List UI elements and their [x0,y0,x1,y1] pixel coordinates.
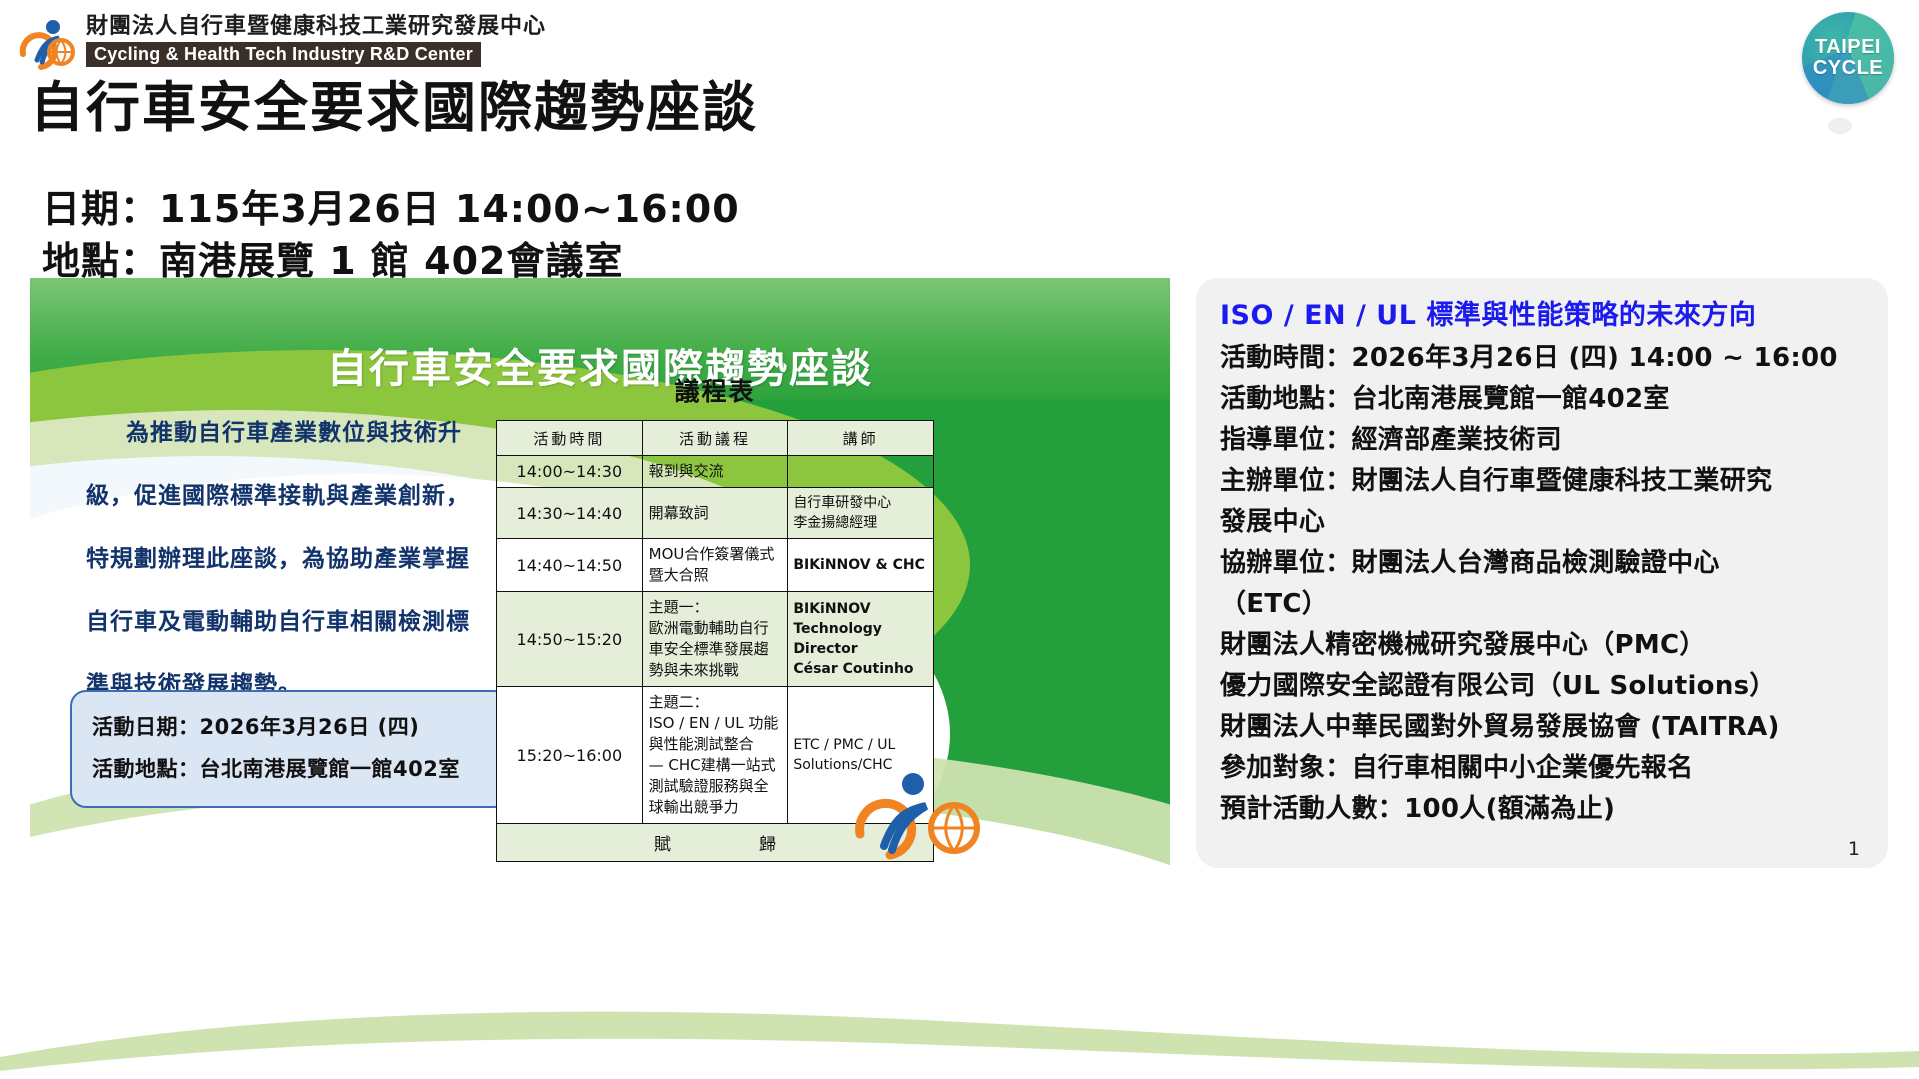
slide-info-box: 活動日期：2026年3月26日 (四) 活動地點：台北南港展覽館一館402室 [70,690,510,808]
agenda-speaker: 自行車研發中心李金揚總經理 [788,488,934,539]
slide-preview: 自行車安全要求國際趨勢座談 為推動自行車產業數位與技術升 級，促進國際標準接軌與… [30,278,1170,868]
slide-body-line: 自行車及電動輔助自行車相關檢測標 [86,591,556,654]
panel-line-capacity: 預計活動人數：100人(額滿為止) [1220,789,1866,830]
agenda-topic: 主題二：ISO / EN / UL 功能與性能測試整合— CHC建構一站式測試驗… [642,687,788,824]
agenda-col-topic: 活動議程 [642,421,788,456]
agenda-header-row: 活動時間 活動議程 講師 [497,421,934,456]
org-name-en: Cycling & Health Tech Industry R&D Cente… [86,42,481,67]
event-place-line: 地點：南港展覽 1 館 402會議室 [42,230,623,285]
agenda-time: 14:40~14:50 [497,539,643,592]
slide-info-place: 活動地點：台北南港展覽館一館402室 [92,748,488,790]
agenda-speaker: BIKiNNOV & CHC [788,539,934,592]
panel-line-coorg-taitra: 財團法人中華民國對外貿易發展協會 (TAITRA) [1220,707,1866,748]
agenda-col-speaker: 講師 [788,421,934,456]
panel-line-host-unit-cont: 發展中心 [1220,502,1866,543]
panel-line-time: 活動時間：2026年3月26日 (四) 14:00 ~ 16:00 [1220,338,1866,379]
panel-line-coorg-pmc: 財團法人精密機械研究發展中心（PMC） [1220,625,1866,666]
slide-info-date: 活動日期：2026年3月26日 (四) [92,706,488,748]
agenda-time: 14:50~15:20 [497,592,643,687]
organization-header: 財團法人自行車暨健康科技工業研究發展中心 Cycling & Health Te… [18,14,546,72]
event-details-panel: ISO / EN / UL 標準與性能策略的未來方向 活動時間：2026年3月2… [1196,278,1888,868]
agenda-topic: 開幕致詞 [642,488,788,539]
agenda-time: 14:30~14:40 [497,488,643,539]
agenda-speaker [788,456,934,488]
event-date-line: 日期：115年3月26日 14:00~16:00 [42,178,740,233]
slide-body-line: 為推動自行車產業數位與技術升 [86,402,556,465]
footer-decoration [0,959,1919,1079]
panel-line-audience: 參加對象：自行車相關中小企業優先報名 [1220,748,1866,789]
page-title: 自行車安全要求國際趨勢座談 [30,78,758,138]
table-row: 14:50~15:20 主題一：歐洲電動輔助自行車安全標準發展趨勢與未來挑戰 B… [497,592,934,687]
table-row: 14:00~14:30 報到與交流 [497,456,934,488]
agenda-topic: 主題一：歐洲電動輔助自行車安全標準發展趨勢與未來挑戰 [642,592,788,687]
agenda-speaker: BIKiNNOVTechnology DirectorCésar Coutinh… [788,592,934,687]
panel-line-coorg-etc: （ETC） [1220,584,1866,625]
taipei-cycle-line-2: CYCLE [1813,58,1883,79]
table-row: 14:40~14:50 MOU合作簽署儀式暨大合照 BIKiNNOV & CHC [497,539,934,592]
table-row: 14:30~14:40 開幕致詞 自行車研發中心李金揚總經理 [497,488,934,539]
panel-heading: ISO / EN / UL 標準與性能策略的未來方向 [1220,296,1866,336]
agenda-time: 14:00~14:30 [497,456,643,488]
decorative-dot [1828,118,1852,134]
panel-line-coorg-unit: 協辦單位：財團法人台灣商品檢測驗證中心 [1220,543,1866,584]
chc-cyclist-globe-icon [18,14,76,72]
agenda-col-time: 活動時間 [497,421,643,456]
chc-cyclist-globe-icon [850,770,1010,862]
panel-line-guidance-unit: 指導單位：經濟部產業技術司 [1220,420,1866,461]
slide-body-line: 級，促進國際標準接軌與產業創新， [86,465,556,528]
agenda-title: 議程表 [496,372,934,408]
page-number: 1 [1848,838,1860,860]
taipei-cycle-line-1: TAIPEI [1815,37,1881,58]
agenda-time: 15:20~16:00 [497,687,643,824]
agenda-topic: 報到與交流 [642,456,788,488]
slide-body-text: 為推動自行車產業數位與技術升 級，促進國際標準接軌與產業創新， 特規劃辦理此座談… [86,402,556,717]
agenda-topic: MOU合作簽署儀式暨大合照 [642,539,788,592]
panel-line-coorg-ul: 優力國際安全認證有限公司（UL Solutions） [1220,666,1866,707]
panel-line-host-unit: 主辦單位：財團法人自行車暨健康科技工業研究 [1220,461,1866,502]
org-name-zh: 財團法人自行車暨健康科技工業研究發展中心 [86,14,546,40]
slide-body-line: 特規劃辦理此座談，為協助產業掌握 [86,528,556,591]
panel-line-place: 活動地點：台北南港展覽館一館402室 [1220,379,1866,420]
taipei-cycle-globe-icon: TAIPEI CYCLE [1802,12,1894,104]
